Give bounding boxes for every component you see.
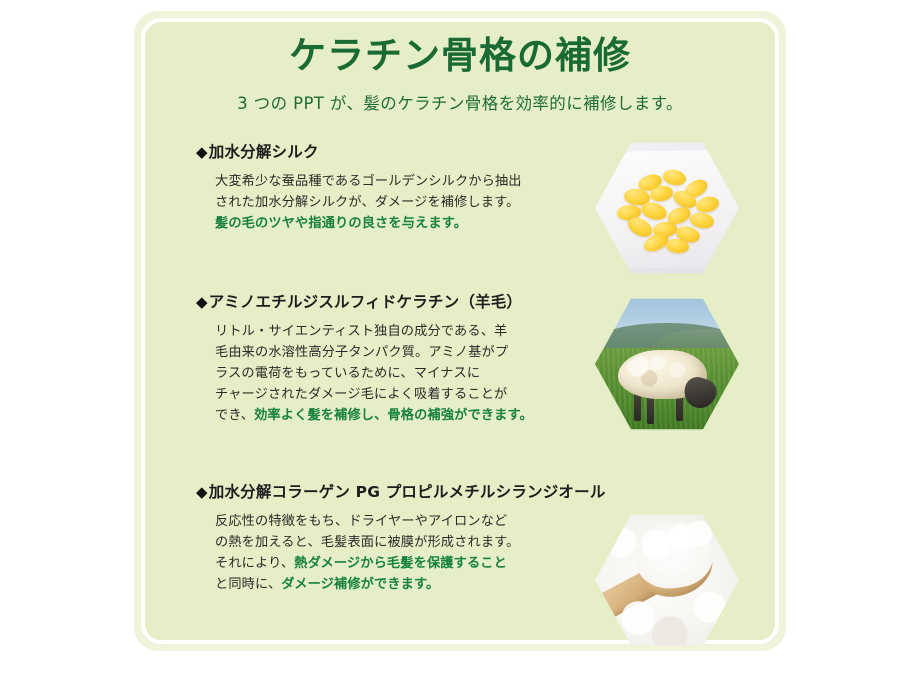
body-line-lead: それにより、 — [215, 556, 294, 571]
poster-canvas: ケラチン骨格の補修 3 つの PPT が、髪のケラチン骨格を効率的に補修します。… — [0, 0, 920, 680]
diamond-bullet-icon: ◆ — [196, 145, 208, 160]
body-line-highlight: ダメージ補修ができます。 — [281, 577, 439, 592]
body-line-mixed: でき、効率よく髪を補修し、骨格の補強ができます。 — [215, 405, 545, 426]
diamond-bullet-icon: ◆ — [196, 485, 208, 500]
section-body: 反応性の特徴をもち、ドライヤーやアイロンなど の熱を加えると、毛髪表面に被膜が形… — [215, 511, 545, 595]
body-line-highlight: 熱ダメージから毛髪を保護すること — [294, 556, 507, 571]
page-title: ケラチン骨格の補修 — [141, 35, 779, 78]
body-line-lead: でき、 — [215, 408, 254, 423]
section-body: リトル・サイエンティスト独自の成分である、羊 毛由来の水溶性高分子タンパク質。ア… — [215, 321, 545, 426]
body-line: の熱を加えると、毛髪表面に被膜が形成されます。 — [215, 532, 545, 553]
body-line: リトル・サイエンティスト独自の成分である、羊 — [215, 321, 545, 342]
body-line: ラスの電荷をもっているために、マイナスに — [215, 363, 545, 384]
body-line-lead: と同時に、 — [215, 577, 281, 592]
body-line: 反応性の特徴をもち、ドライヤーやアイロンなど — [215, 511, 545, 532]
section-heading: ◆ 加水分解コラーゲン PG プロピルメチルシランジオール — [196, 482, 756, 502]
body-line: 毛由来の水溶性高分子タンパク質。アミノ基がプ — [215, 342, 545, 363]
body-line: 大変希少な蚕品種であるゴールデンシルクから抽出 — [215, 171, 545, 192]
page-subtitle: 3 つの PPT が、髪のケラチン骨格を効率的に補修します。 — [141, 90, 779, 114]
section-heading-label: 加水分解コラーゲン PG プロピルメチルシランジオール — [209, 482, 606, 502]
body-line: された加水分解シルクが、ダメージを補修します。 — [215, 192, 545, 213]
diamond-bullet-icon: ◆ — [196, 295, 208, 310]
body-line-mixed: それにより、熱ダメージから毛髪を保護すること — [215, 553, 545, 574]
body-line-emphasis: 髪の毛のツヤや指通りの良さを与えます。 — [215, 213, 545, 234]
body-line: チャージされたダメージ毛によく吸着することが — [215, 384, 545, 405]
section-heading-label: アミノエチルジスルフィドケラチン（羊毛） — [209, 292, 522, 312]
body-line-mixed: と同時に、ダメージ補修ができます。 — [215, 574, 545, 595]
section-heading-label: 加水分解シルク — [209, 142, 319, 162]
body-line-highlight: 効率よく髪を補修し、骨格の補強ができます。 — [254, 408, 533, 423]
section-body: 大変希少な蚕品種であるゴールデンシルクから抽出 された加水分解シルクが、ダメージ… — [215, 171, 545, 234]
